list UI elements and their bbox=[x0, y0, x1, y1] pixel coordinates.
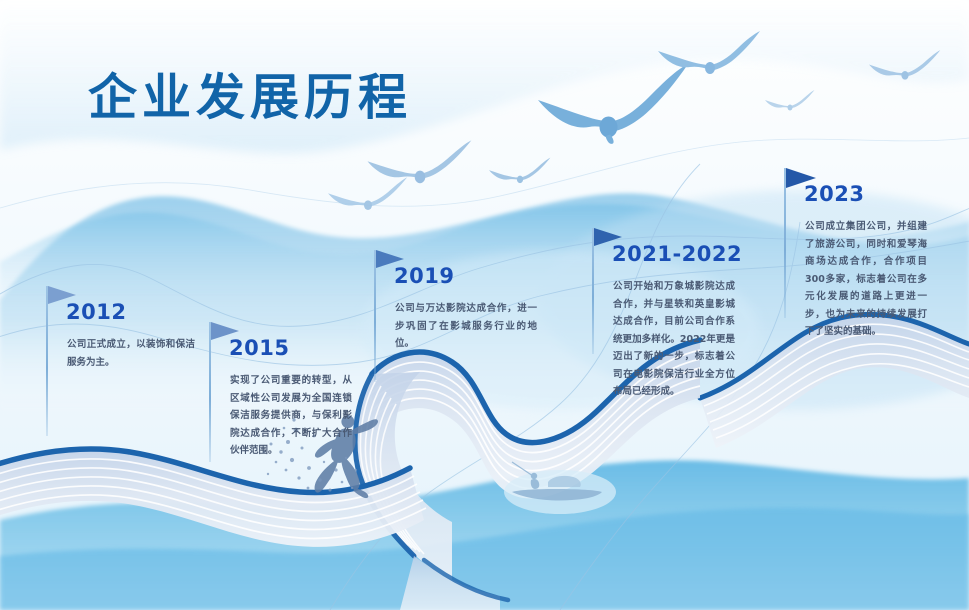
milestone-year: 2015 bbox=[229, 336, 289, 360]
flagpole bbox=[784, 168, 786, 318]
flagpole bbox=[592, 228, 594, 354]
bird-icon bbox=[489, 158, 550, 183]
bird-icon bbox=[328, 177, 407, 210]
milestone-description: 公司与万达影院达成合作，进一步巩固了在影城服务行业的地位。 bbox=[395, 300, 537, 353]
milestone-description: 公司开始和万象城影院达成合作，并与星轶和英皇影城达成合作，目前公司合作系统更加多… bbox=[613, 278, 735, 401]
bird-icon bbox=[765, 90, 815, 111]
page-title: 企业发展历程 bbox=[88, 58, 412, 129]
milestone-year: 2019 bbox=[394, 264, 454, 288]
flagpole bbox=[209, 322, 211, 462]
ribbon-segment-bottom bbox=[400, 556, 508, 610]
milestone-description: 公司正式成立，以装饰和保洁服务为主。 bbox=[67, 336, 195, 371]
flagpole bbox=[46, 286, 48, 436]
milestone-description: 公司成立集团公司，并组建了旅游公司，同时和爱琴海商场达成合作，合作项目300多家… bbox=[805, 218, 927, 341]
ribbon-fold-left bbox=[355, 372, 452, 580]
milestone-description: 实现了公司重要的转型，从区域性公司发展为全国连锁保洁服务提供商，与保利影院达成合… bbox=[230, 372, 352, 460]
milestone-year: 2012 bbox=[66, 300, 126, 324]
flagpole bbox=[374, 250, 376, 382]
bird-icon bbox=[538, 64, 688, 144]
poster-canvas: 企业发展历程 2012 公司正式成立，以装饰和保洁服务为主。 2015 实现了公… bbox=[0, 0, 969, 610]
ribbon-segment-left bbox=[0, 449, 426, 547]
bird-icon bbox=[368, 140, 472, 183]
milestone-year: 2023 bbox=[804, 182, 864, 206]
bird-icon bbox=[869, 50, 940, 80]
bird-icon bbox=[658, 31, 760, 74]
milestone-year: 2021-2022 bbox=[612, 242, 742, 266]
